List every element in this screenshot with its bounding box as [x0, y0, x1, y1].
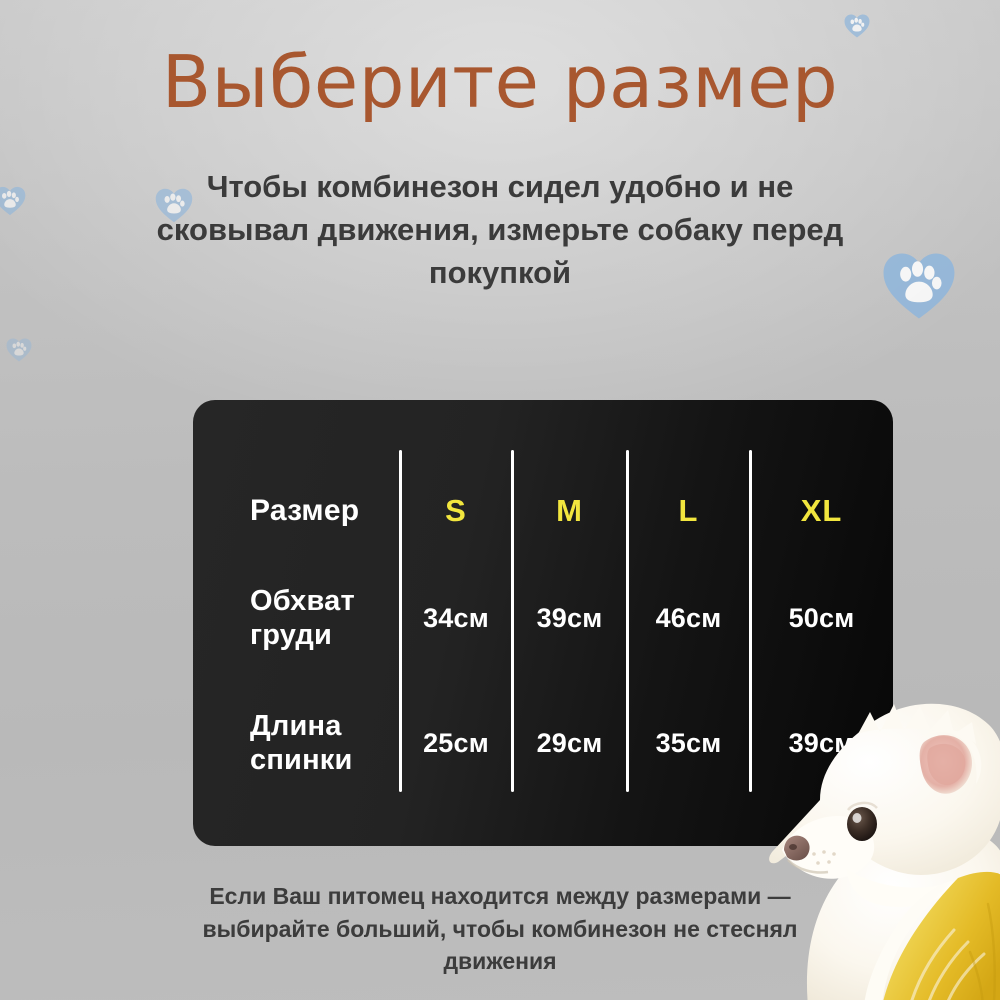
size-column-header-s: S	[400, 493, 512, 529]
size-column-header-l: L	[627, 493, 750, 529]
page-title: Выберите размер	[0, 46, 1000, 118]
cell-chest-m: 39см	[512, 603, 627, 634]
heart-paw-icon	[882, 252, 956, 320]
poster-canvas: Выберите размер Чтобы комбинезон сидел у…	[0, 0, 1000, 1000]
heart-paw-icon	[844, 14, 870, 38]
cell-back-m: 29см	[512, 728, 627, 759]
table-header-row: Размер S M L XL	[193, 482, 893, 540]
table-header-label: Размер	[193, 493, 400, 528]
row-label-chest-girth: Обхват груди	[193, 584, 400, 652]
heart-paw-icon	[0, 186, 26, 216]
size-column-header-xl: XL	[750, 493, 893, 529]
heart-paw-icon	[6, 338, 32, 362]
cell-chest-xl: 50см	[750, 603, 893, 634]
cell-chest-s: 34см	[400, 603, 512, 634]
row-label-back-length: Длина спинки	[193, 709, 400, 777]
table-row: Обхват груди 34см 39см 46см 50см	[193, 580, 893, 656]
cell-back-l: 35см	[627, 728, 750, 759]
cell-chest-l: 46см	[627, 603, 750, 634]
cell-back-s: 25см	[400, 728, 512, 759]
page-subtitle: Чтобы комбинезон сидел удобно и не сковы…	[150, 166, 850, 294]
size-column-header-m: M	[512, 493, 627, 529]
footer-note: Если Ваш питомец находится между размера…	[200, 880, 800, 978]
